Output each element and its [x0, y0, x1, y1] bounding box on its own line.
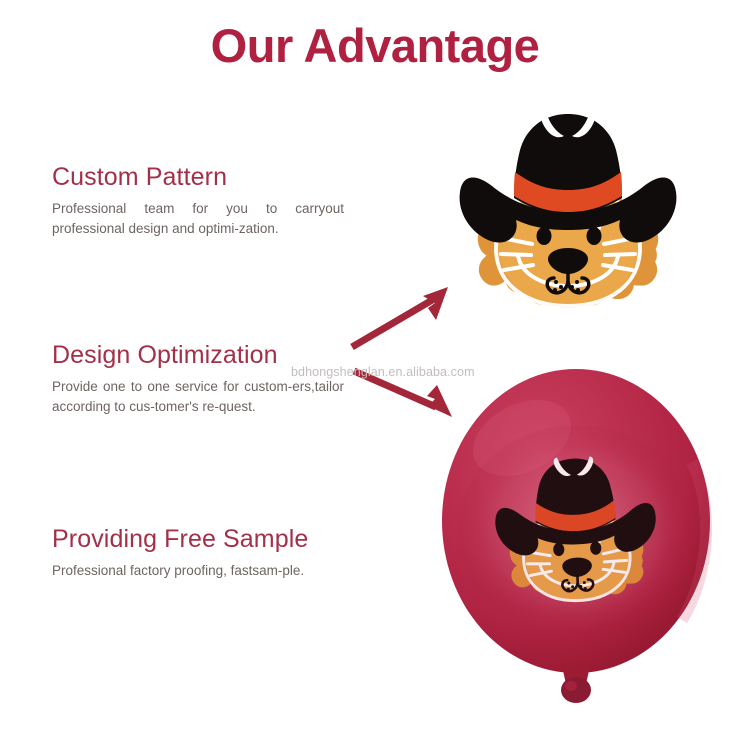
feature-body-design-optimization: Provide one to one service for custom-er… — [52, 377, 344, 418]
balloon-printed-lion — [458, 425, 694, 637]
cowboy-lion-artwork — [444, 106, 692, 324]
feature-body-custom-pattern: Professional team for you to carryout pr… — [52, 199, 344, 240]
feature-title-custom-pattern: Custom Pattern — [52, 163, 352, 192]
printed-balloon-artwork — [430, 366, 730, 711]
advertisement-page: Our Advantage Custom Pattern Professiona… — [0, 0, 750, 750]
feature-block-providing-free-sample: Providing Free Sample Professional facto… — [52, 525, 352, 581]
feature-title-design-optimization: Design Optimization — [52, 341, 352, 370]
feature-block-design-optimization: Design Optimization Provide one to one s… — [52, 341, 352, 417]
arrow-up-right-icon — [352, 287, 448, 347]
balloon-knot — [561, 666, 591, 703]
page-title: Our Advantage — [0, 18, 750, 73]
feature-title-providing-free-sample: Providing Free Sample — [52, 525, 352, 554]
feature-block-custom-pattern: Custom Pattern Professional team for you… — [52, 163, 352, 239]
feature-body-providing-free-sample: Professional factory proofing, fastsam-p… — [52, 561, 344, 581]
